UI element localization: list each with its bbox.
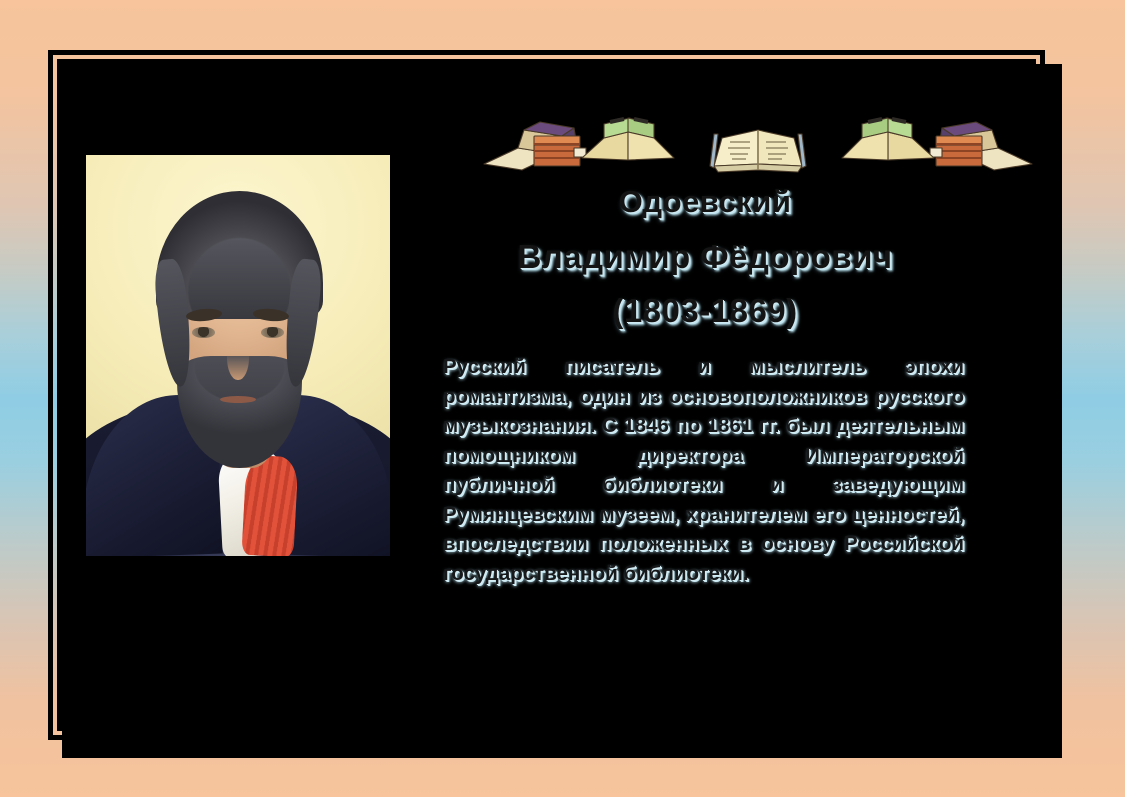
presentation-slide: Одоевский Владимир Фёдорович (1803-1869)… [0, 0, 1125, 797]
page-title-given-name: Владимир Фёдорович [425, 234, 985, 280]
portrait-eye-left [192, 327, 215, 337]
portrait-image [86, 155, 390, 556]
biography-text: Русский писатель и мыслитель эпохи роман… [443, 352, 964, 588]
portrait-mouth [220, 396, 256, 403]
page-title-surname: Одоевский [425, 182, 985, 222]
portrait-frame [86, 155, 390, 556]
books-decoration-icon [478, 108, 1038, 180]
page-title-lifespan: (1803-1869) [425, 288, 985, 334]
portrait-nose [227, 335, 248, 379]
portrait-cravat [241, 454, 298, 556]
text-column: Одоевский Владимир Фёдорович (1803-1869)… [425, 182, 985, 588]
portrait-eye-right [261, 327, 284, 337]
